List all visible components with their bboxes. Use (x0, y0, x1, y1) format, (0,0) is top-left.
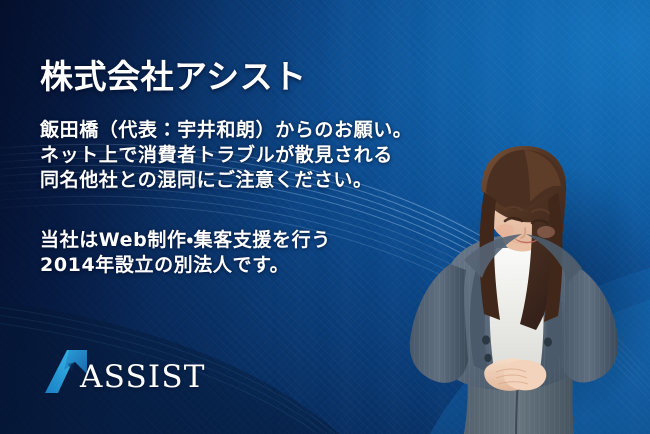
notice-line: 同名他社との混同にご注意ください。 (40, 168, 412, 193)
notice-line: ネット上で消費者トラブルが散見される (40, 143, 412, 168)
page-title: 株式会社アシスト (40, 60, 307, 93)
notice-line: 飯田橋（代表：宇井和朗）からのお願い。 (40, 118, 412, 143)
assist-wordmark: ASSIST (80, 362, 206, 393)
notice-line: 2014年設立の別法人です。 (40, 253, 331, 278)
banner-canvas: 株式会社アシスト 飯田橋（代表：宇井和朗）からのお願い。 ネット上で消費者トラブ… (0, 0, 650, 434)
notice-line: 当社はWeb制作・集客支援を行う (40, 228, 331, 253)
assist-logo: ASSIST (42, 348, 206, 394)
notice-paragraph-2: 当社はWeb制作・集客支援を行う 2014年設立の別法人です。 (40, 228, 331, 278)
notice-paragraph-1: 飯田橋（代表：宇井和朗）からのお願い。 ネット上で消費者トラブルが散見される 同… (40, 118, 412, 193)
